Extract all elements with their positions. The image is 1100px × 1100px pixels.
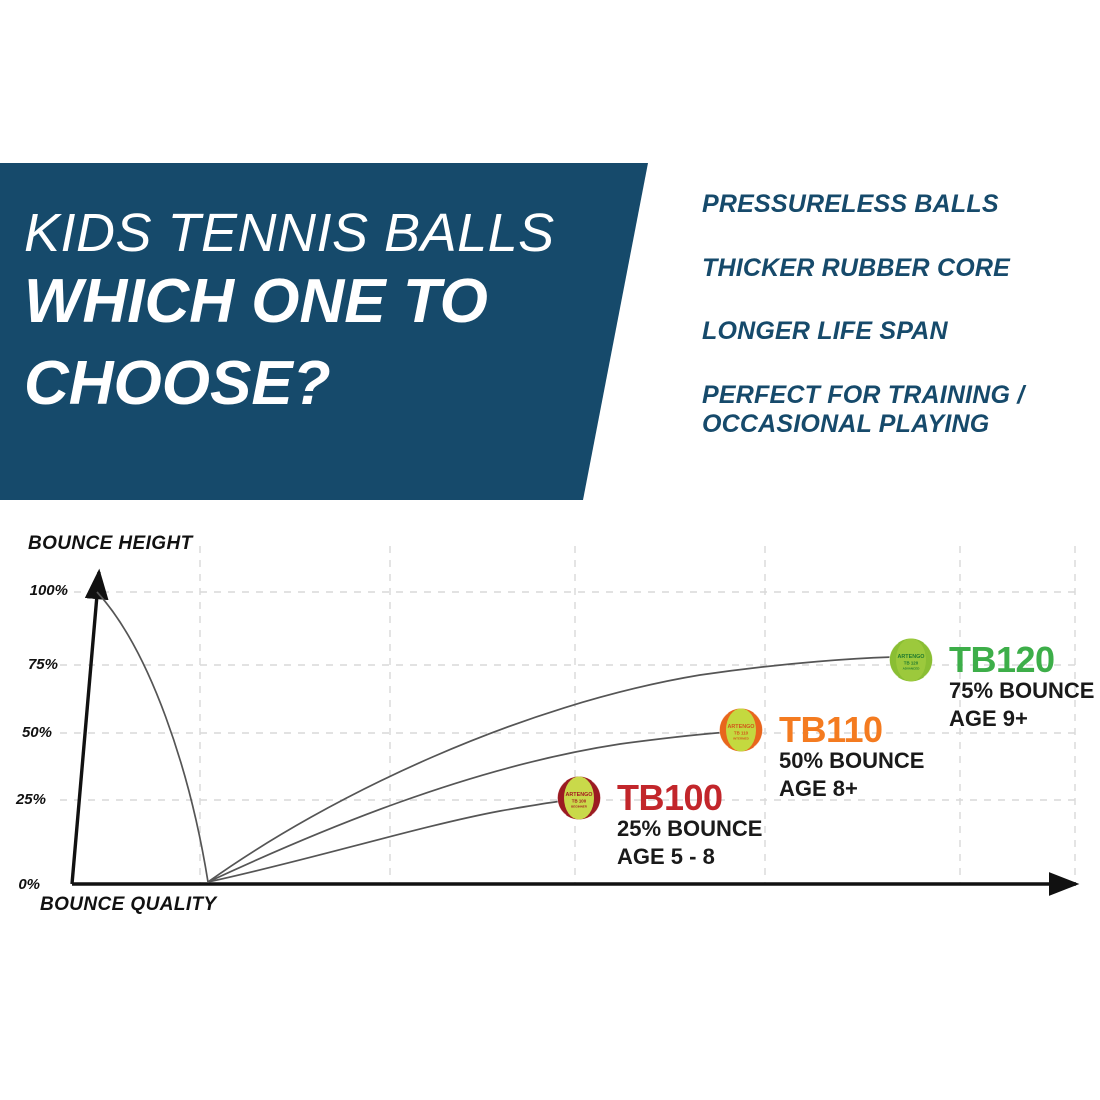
ytick-25: 25%	[4, 791, 46, 808]
title-text-group: KIDS TENNIS BALLS WHICH ONE TO CHOOSE?	[24, 205, 650, 425]
infographic-root: KIDS TENNIS BALLS WHICH ONE TO CHOOSE? P…	[0, 0, 1100, 1100]
product-name-tb120: TB120	[949, 642, 1094, 677]
curve-tb100	[208, 800, 570, 882]
svg-text:ARTENGO: ARTENGO	[898, 654, 925, 660]
title-line-2: WHICH ONE TO	[24, 261, 650, 343]
product-bounce-tb110: 50% BOUNCE	[779, 747, 924, 775]
y-axis	[72, 572, 99, 884]
product-name-tb100: TB100	[617, 780, 762, 815]
feature-item-pressureless: PRESSURELESS BALLS	[702, 190, 1092, 220]
product-label-tb120: TB120 75% BOUNCE AGE 9+	[949, 642, 1094, 734]
chart-canvas	[0, 520, 1100, 940]
svg-text:TB 110: TB 110	[734, 731, 749, 736]
title-line-1: KIDS TENNIS BALLS	[24, 205, 650, 261]
product-age-tb120: AGE 9+	[949, 705, 1094, 733]
svg-text:INTERMED: INTERMED	[733, 737, 750, 741]
feature-item-rubber-core: THICKER RUBBER CORE	[702, 254, 1092, 284]
title-line-3: CHOOSE?	[24, 343, 650, 425]
tennis-ball-tb110-icon: ARTENGO TB 110 INTERMED	[719, 708, 763, 752]
title-block: KIDS TENNIS BALLS WHICH ONE TO CHOOSE?	[0, 163, 650, 500]
product-label-tb100: TB100 25% BOUNCE AGE 5 - 8	[617, 780, 762, 872]
ytick-75: 75%	[16, 656, 58, 673]
bounce-chart: BOUNCE HEIGHT BOUNCE QUALITY 0% 25% 50% …	[0, 520, 1100, 940]
svg-text:ARTENGO: ARTENGO	[728, 724, 755, 730]
svg-text:ADVANCED: ADVANCED	[903, 667, 921, 671]
product-bounce-tb120: 75% BOUNCE	[949, 677, 1094, 705]
curve-drop	[97, 592, 208, 882]
svg-text:BEGINNER: BEGINNER	[571, 805, 588, 809]
tennis-ball-tb100-icon: ARTENGO TB 100 BEGINNER	[557, 776, 601, 820]
ytick-100: 100%	[16, 582, 68, 599]
product-age-tb110: AGE 8+	[779, 775, 924, 803]
y-axis-title: BOUNCE HEIGHT	[28, 533, 193, 555]
feature-list: PRESSURELESS BALLS THICKER RUBBER CORE L…	[702, 190, 1092, 440]
product-bounce-tb100: 25% BOUNCE	[617, 815, 762, 843]
product-age-tb100: AGE 5 - 8	[617, 843, 762, 871]
product-label-tb110: TB110 50% BOUNCE AGE 8+	[779, 712, 924, 804]
svg-text:ARTENGO: ARTENGO	[566, 792, 593, 798]
x-axis-title: BOUNCE QUALITY	[40, 894, 217, 916]
feature-item-training: PERFECT FOR TRAINING / OCCASIONAL PLAYIN…	[702, 381, 1092, 440]
ytick-0: 0%	[6, 876, 40, 893]
feature-item-life-span: LONGER LIFE SPAN	[702, 317, 1092, 347]
svg-text:TB 100: TB 100	[572, 799, 587, 804]
tennis-ball-tb120-icon: ARTENGO TB 120 ADVANCED	[889, 638, 933, 682]
chart-gridlines	[60, 546, 1078, 884]
svg-text:TB 120: TB 120	[904, 661, 919, 666]
product-name-tb110: TB110	[779, 712, 924, 747]
ytick-50: 50%	[10, 724, 52, 741]
